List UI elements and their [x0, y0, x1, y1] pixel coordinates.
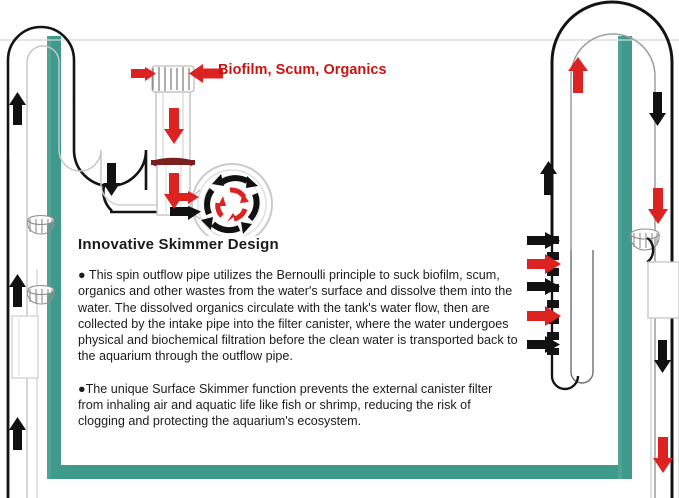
callout-biofilm-label: Biofilm, Scum, Organics	[218, 62, 387, 78]
spin-wheel-nozzle	[192, 164, 272, 244]
paragraph-bernoulli: ● This spin outflow pipe utilizes the Be…	[78, 267, 520, 365]
description-panel: Innovative Skimmer Design ● This spin ou…	[78, 236, 520, 446]
page-title: Innovative Skimmer Design	[78, 236, 520, 253]
skimmer-diagram: Biofilm, Scum, Organics Innovative Skimm…	[0, 0, 679, 498]
paragraph-surface-skimmer: ●The unique Surface Skimmer function pre…	[78, 381, 520, 430]
